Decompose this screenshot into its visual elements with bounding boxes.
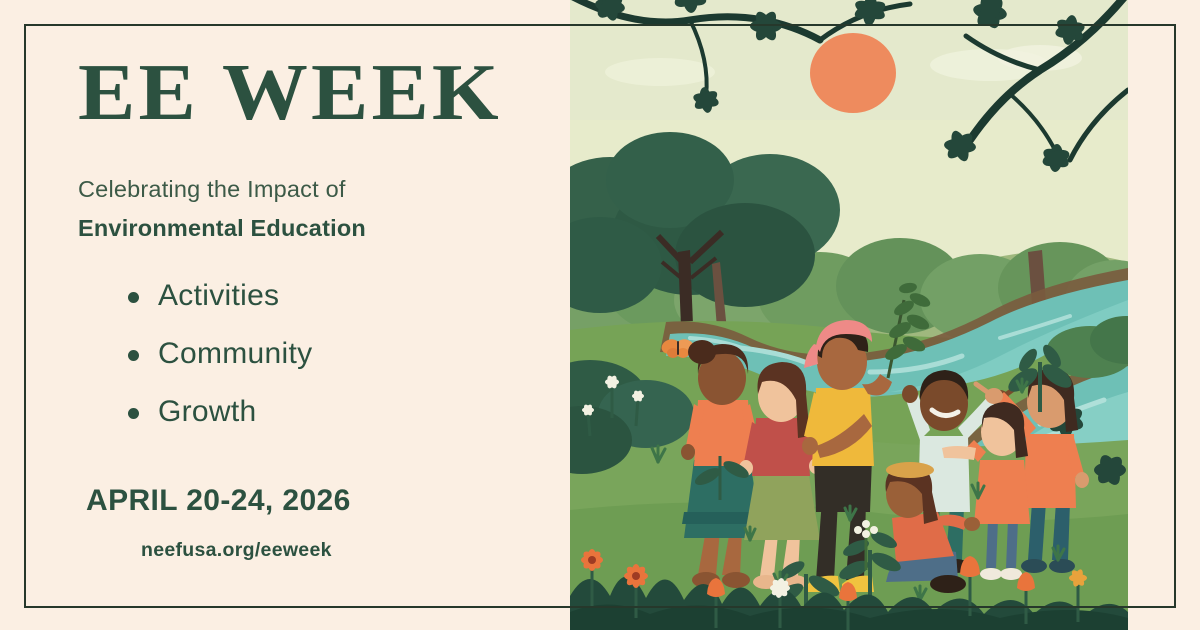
list-item-label: Activities [158,279,279,312]
list-item-label: Community [158,337,312,370]
list-item: Community [122,334,312,392]
highlights-list: Activities Community Growth [122,276,312,450]
page-title: EE WEEK [78,52,502,133]
list-item: Growth [122,392,312,450]
text-column: EE WEEK Celebrating the Impact of Enviro… [0,0,570,630]
poster-canvas: EE WEEK Celebrating the Impact of Enviro… [0,0,1200,630]
list-item-label: Growth [158,395,257,428]
nature-scene-illustration [570,0,1128,630]
bullet-dot-icon [128,350,139,361]
cloud [605,58,715,86]
bullet-dot-icon [128,408,139,419]
illustration-panel [570,0,1128,630]
bullet-dot-icon [128,292,139,303]
sun-icon [810,33,896,113]
subtitle-line-1: Celebrating the Impact of [78,176,346,203]
subtitle-line-2: Environmental Education [78,215,366,242]
website-url[interactable]: neefusa.org/eeweek [141,539,332,562]
list-item: Activities [122,276,312,334]
event-date: APRIL 20-24, 2026 [86,484,351,518]
